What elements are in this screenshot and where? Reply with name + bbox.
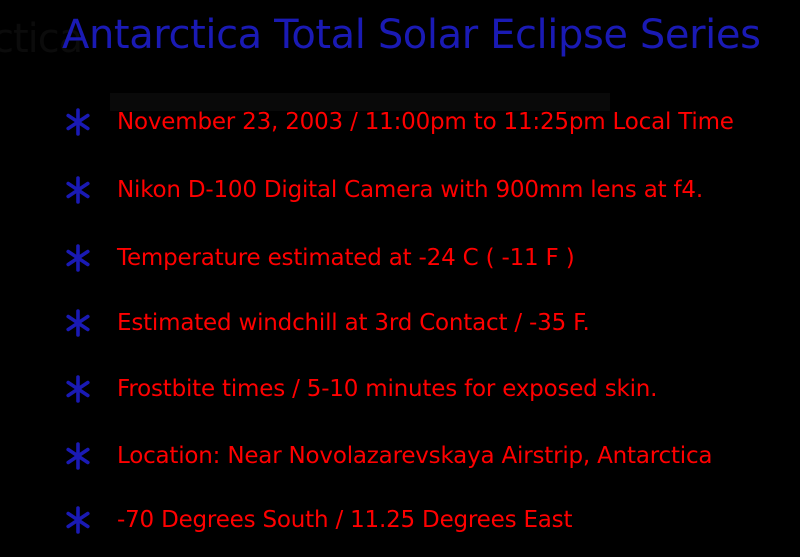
asterisk-bullet-icon (64, 303, 92, 343)
asterisk-bullet-icon (64, 369, 92, 409)
asterisk-bullet-icon (64, 238, 92, 278)
list-item-label: Estimated windchill at 3rd Contact / -35… (117, 303, 590, 343)
list-item: Nikon D-100 Digital Camera with 900mm le… (0, 170, 800, 210)
asterisk-bullet-icon (64, 102, 92, 142)
list-item-label: November 23, 2003 / 11:00pm to 11:25pm L… (117, 102, 734, 142)
list-item-label: -70 Degrees South / 11.25 Degrees East (117, 500, 572, 540)
list-item: Temperature estimated at -24 C ( -11 F ) (0, 238, 800, 278)
presentation-slide: ctica Antarctica Total Solar Eclipse Ser… (0, 0, 800, 557)
asterisk-bullet-icon (64, 170, 92, 210)
asterisk-bullet-icon (64, 436, 92, 476)
list-item-label: Temperature estimated at -24 C ( -11 F ) (117, 238, 574, 278)
list-item: November 23, 2003 / 11:00pm to 11:25pm L… (0, 102, 800, 142)
asterisk-bullet-icon (64, 500, 92, 540)
bullet-list: November 23, 2003 / 11:00pm to 11:25pm L… (0, 0, 800, 557)
list-item: Frostbite times / 5-10 minutes for expos… (0, 369, 800, 409)
list-item: -70 Degrees South / 11.25 Degrees East (0, 500, 800, 540)
list-item: Estimated windchill at 3rd Contact / -35… (0, 303, 800, 343)
list-item-label: Nikon D-100 Digital Camera with 900mm le… (117, 170, 703, 210)
list-item-label: Location: Near Novolazarevskaya Airstrip… (117, 436, 712, 476)
list-item: Location: Near Novolazarevskaya Airstrip… (0, 436, 800, 476)
list-item-label: Frostbite times / 5-10 minutes for expos… (117, 369, 657, 409)
